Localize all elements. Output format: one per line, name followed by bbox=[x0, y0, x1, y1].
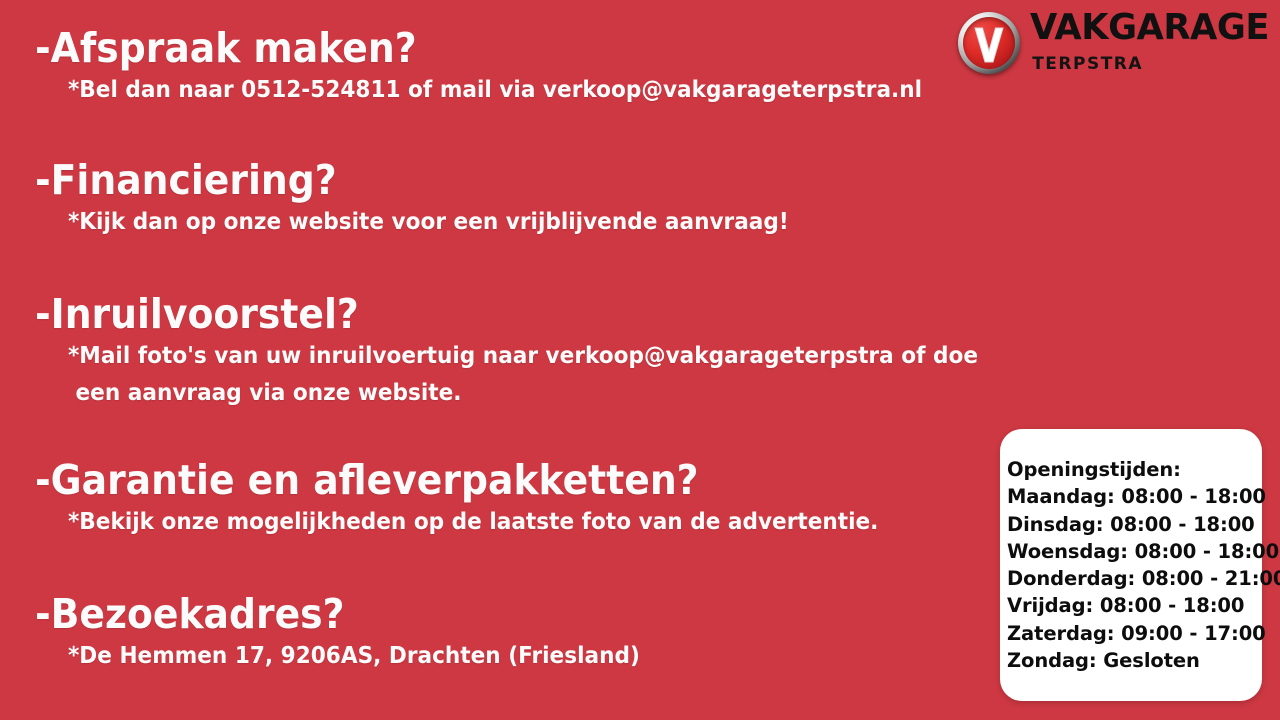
section-financiering: -Financiering? *Kijk dan op onze website… bbox=[35, 160, 835, 241]
section-subtext: *De Hemmen 17, 9206AS, Drachten (Friesla… bbox=[68, 638, 640, 675]
logo-brand-sub: TeRPSTRa bbox=[1032, 49, 1274, 73]
opening-hours-row: Dinsdag: 08:00 - 18:00 bbox=[1007, 511, 1262, 538]
section-subtext-line1: *Bekijk onze mogelijkheden op de laatste… bbox=[68, 509, 878, 535]
logo-wordmark: VAKGARAGE TeRPSTRa bbox=[1030, 10, 1274, 75]
opening-hours-title: Openingstijden: bbox=[1007, 456, 1262, 483]
section-inruilvoorstel: -Inruilvoorstel? *Mail foto's van uw inr… bbox=[35, 294, 1036, 412]
section-bezoekadres: -Bezoekadres? *De Hemmen 17, 9206AS, Dra… bbox=[35, 594, 676, 675]
section-garantie: -Garantie en afleverpakketten? *Bekijk o… bbox=[35, 460, 930, 541]
section-subtext: *Bekijk onze mogelijkheden op de laatste… bbox=[68, 504, 878, 541]
section-subtext: *Kijk dan op onze website voor een vrijb… bbox=[68, 204, 789, 241]
section-heading: -Afspraak maken? bbox=[35, 28, 901, 70]
section-heading: -Financiering? bbox=[35, 160, 771, 202]
logo-brand-name: VAKGARAGE bbox=[1030, 10, 1269, 46]
section-subtext-line1: *Kijk dan op onze website voor een vrijb… bbox=[68, 209, 789, 235]
vakgarage-logo: VAKGARAGE TeRPSTRa bbox=[958, 10, 1274, 75]
opening-hours-row: Donderdag: 08:00 - 21:00 bbox=[1007, 565, 1262, 592]
opening-hours-panel: Openingstijden: Maandag: 08:00 - 18:00 D… bbox=[1000, 429, 1262, 701]
section-heading: -Inruilvoorstel? bbox=[35, 294, 956, 336]
section-afspraak: -Afspraak maken? *Bel dan naar 0512-5248… bbox=[35, 28, 977, 109]
opening-hours-row: Zondag: Gesloten bbox=[1007, 647, 1262, 674]
opening-hours-row: Woensdag: 08:00 - 18:00 bbox=[1007, 538, 1262, 565]
opening-hours-row: Vrijdag: 08:00 - 18:00 bbox=[1007, 592, 1262, 619]
section-heading: -Garantie en afleverpakketten? bbox=[35, 460, 859, 502]
section-subtext: *Mail foto's van uw inruilvoertuig naar … bbox=[68, 338, 978, 413]
opening-hours-row: Maandag: 08:00 - 18:00 bbox=[1007, 483, 1262, 510]
section-subtext-line1: *Mail foto's van uw inruilvoertuig naar … bbox=[68, 343, 978, 369]
section-subtext-line1: *De Hemmen 17, 9206AS, Drachten (Friesla… bbox=[68, 643, 640, 669]
advertisement-slide: VAKGARAGE TeRPSTRa -Afspraak maken? *Bel… bbox=[0, 0, 1280, 720]
opening-hours-row: Zaterdag: 09:00 - 17:00 bbox=[1007, 620, 1262, 647]
section-subtext-line1: *Bel dan naar 0512-524811 of mail via ve… bbox=[68, 77, 922, 103]
section-subtext-line2: een aanvraag via onze website. bbox=[76, 375, 978, 412]
section-heading: -Bezoekadres? bbox=[35, 594, 625, 636]
section-subtext: *Bel dan naar 0512-524811 of mail via ve… bbox=[68, 72, 922, 109]
